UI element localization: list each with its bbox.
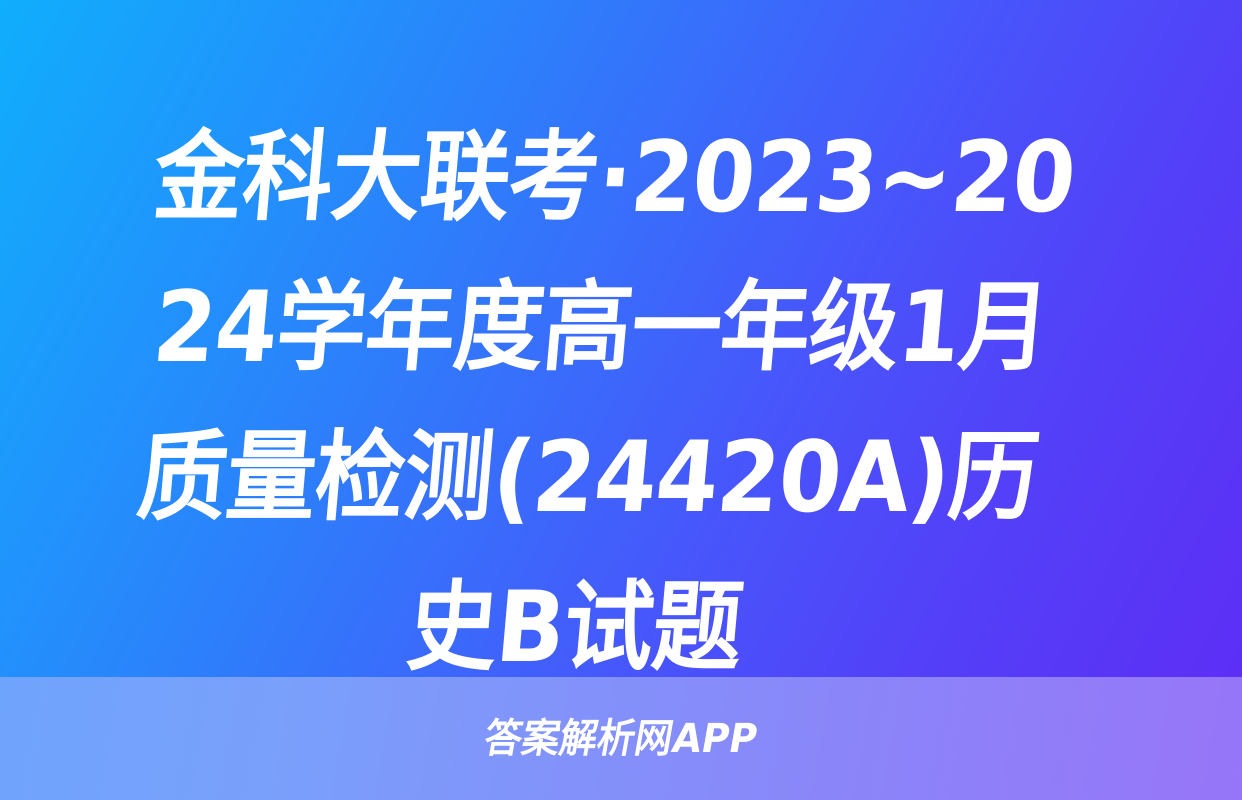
app-promo-banner[interactable]: 答案解析网APP bbox=[0, 677, 1242, 800]
title-area: 金科大联考·2023~2024学年度高一年级1月质量检测(24420A)历史B试… bbox=[0, 0, 1242, 677]
app-promo-label: 答案解析网APP bbox=[481, 719, 760, 759]
exam-poster: 金科大联考·2023~2024学年度高一年级1月质量检测(24420A)历史B试… bbox=[0, 0, 1242, 800]
page-title: 金科大联考·2023~2024学年度高一年级1月质量检测(24420A)历史B试… bbox=[79, 103, 1111, 703]
